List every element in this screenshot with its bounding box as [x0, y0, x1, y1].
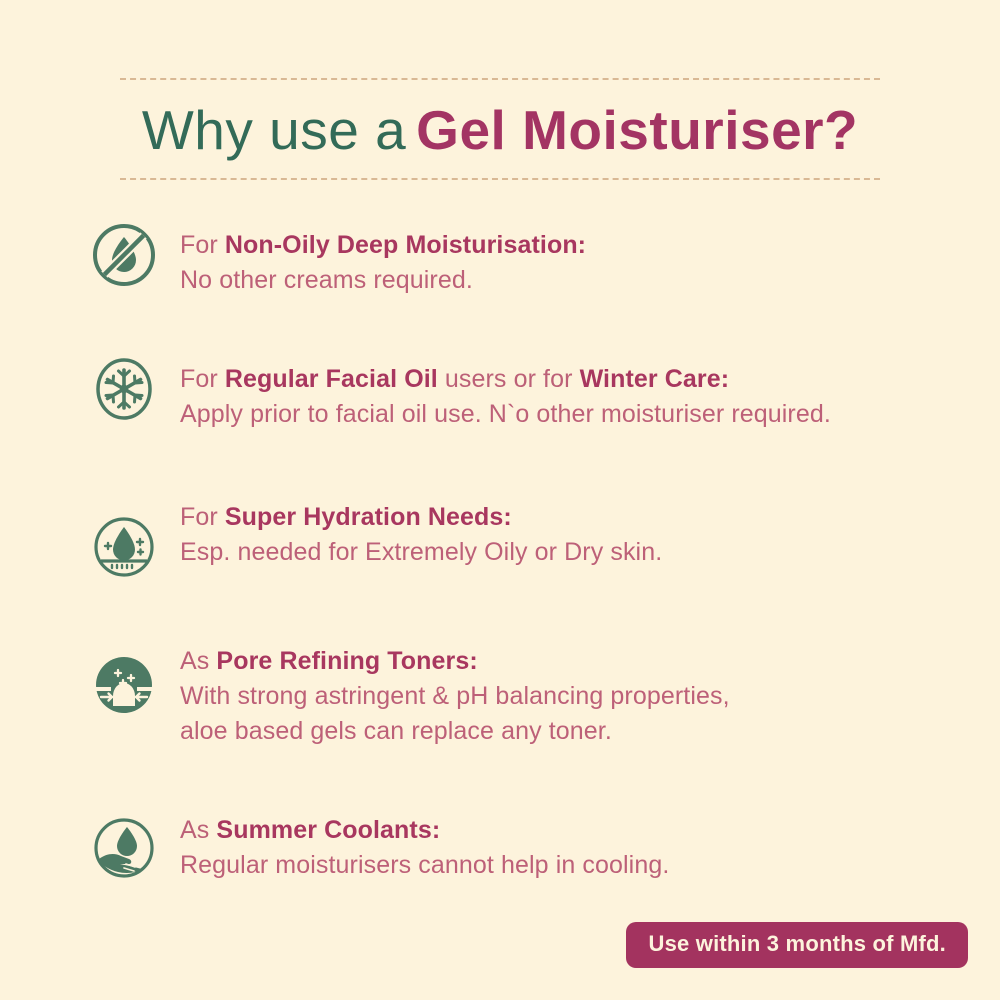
poster: Why use aGel Moisturiser? For Non-Oily D… — [0, 0, 1000, 1000]
list-item-subline: Esp. needed for Extremely Oily or Dry sk… — [180, 535, 662, 570]
list-item-heading: For Super Hydration Needs: — [180, 500, 662, 535]
heading-lead: For — [180, 365, 225, 393]
heading-bold: Summer Coolants: — [216, 816, 440, 844]
list-item-subline: No other creams required. — [180, 263, 586, 298]
list-item-heading: As Summer Coolants: — [180, 813, 669, 848]
page-title-green: Why use a — [142, 99, 406, 161]
no-oil-droplet-icon — [88, 222, 160, 294]
list-item-subline: Apply prior to facial oil use. N`o other… — [180, 397, 831, 432]
title-block: Why use aGel Moisturiser? — [120, 78, 880, 180]
list-item: As Pore Refining Toners: With strong ast… — [88, 638, 968, 749]
snowflake-icon — [88, 356, 160, 428]
heading-lead: As — [180, 647, 216, 675]
list-item: As Summer Coolants: Regular moisturisers… — [88, 807, 968, 887]
heading-bold: Pore Refining Toners: — [216, 647, 477, 675]
list-item-texts: As Pore Refining Toners: With strong ast… — [160, 638, 730, 749]
list-item-heading: As Pore Refining Toners: — [180, 644, 730, 679]
list-item: For Regular Facial Oil users or for Wint… — [88, 356, 968, 432]
heading-bold-2: Winter Care: — [580, 365, 730, 393]
list-item: For Super Hydration Needs: Esp. needed f… — [88, 494, 968, 586]
list-item-heading: For Non-Oily Deep Moisturisation: — [180, 228, 586, 263]
list-item: For Non-Oily Deep Moisturisation: No oth… — [88, 222, 968, 298]
page-title: Why use aGel Moisturiser? — [120, 80, 880, 178]
benefits-list: For Non-Oily Deep Moisturisation: No oth… — [88, 222, 968, 887]
heading-bold: Super Hydration Needs: — [225, 503, 512, 531]
list-item-texts: For Non-Oily Deep Moisturisation: No oth… — [160, 222, 586, 298]
heading-lead: As — [180, 816, 216, 844]
list-item-texts: For Super Hydration Needs: Esp. needed f… — [160, 494, 662, 570]
list-item-texts: As Summer Coolants: Regular moisturisers… — [160, 807, 669, 883]
status-badge: Use within 3 months of Mfd. — [626, 922, 968, 968]
heading-mid: users or for — [438, 365, 580, 393]
list-item-subline: Regular moisturisers cannot help in cool… — [180, 848, 669, 883]
list-item-subline-2: aloe based gels can replace any toner. — [180, 714, 730, 749]
dashed-rule-bottom — [120, 178, 880, 180]
list-item-subline: With strong astringent & pH balancing pr… — [180, 679, 730, 714]
heading-bold: Non-Oily Deep Moisturisation: — [225, 231, 586, 259]
hydration-droplet-icon — [88, 494, 160, 586]
heading-bold: Regular Facial Oil — [225, 365, 438, 393]
pore-refining-icon — [88, 638, 160, 724]
heading-lead: For — [180, 503, 225, 531]
hand-droplet-icon — [88, 807, 160, 887]
list-item-heading: For Regular Facial Oil users or for Wint… — [180, 362, 831, 397]
list-item-texts: For Regular Facial Oil users or for Wint… — [160, 356, 831, 432]
page-title-magenta: Gel Moisturiser? — [416, 99, 858, 161]
heading-lead: For — [180, 231, 225, 259]
